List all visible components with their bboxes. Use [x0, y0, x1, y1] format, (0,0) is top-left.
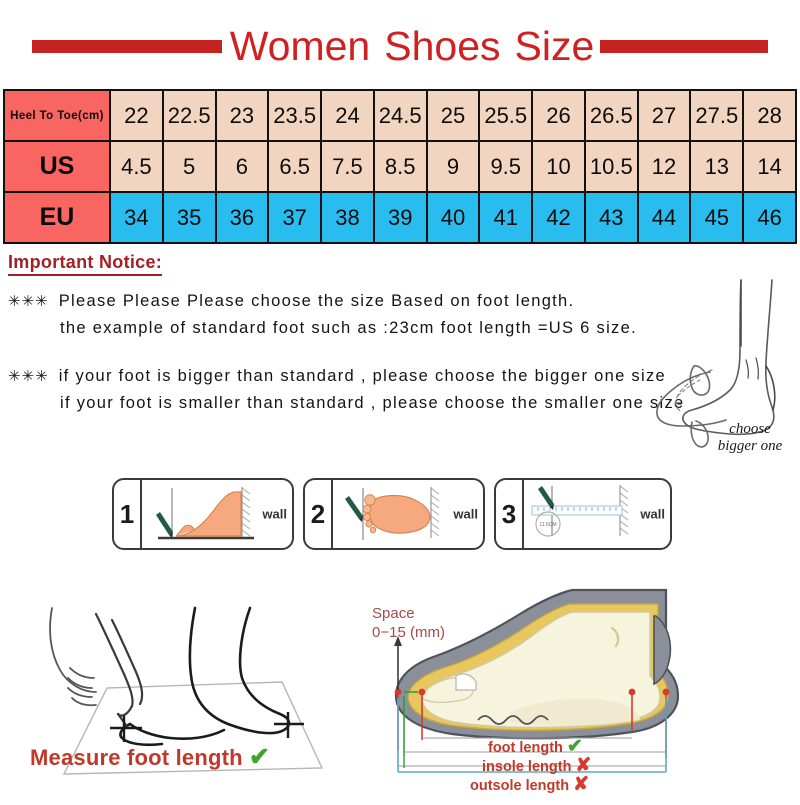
row-header-us: US	[4, 141, 110, 192]
step-3-wall-label: wall	[640, 507, 665, 522]
step-2-number: 2	[305, 480, 333, 548]
cell-us-11: 13	[690, 141, 743, 192]
legend-insole-length-cross-icon: ✘	[575, 755, 591, 776]
table-row-cm: Heel To Toe(cm) 22 22.5 23 23.5 24 24.5 …	[4, 90, 796, 141]
row-header-eu: EU	[4, 192, 110, 243]
cell-cm-12: 28	[743, 90, 796, 141]
step-panel-2: 2	[303, 478, 485, 550]
cell-us-3: 6.5	[268, 141, 321, 192]
cell-us-2: 6	[216, 141, 269, 192]
cell-eu-0: 34	[110, 192, 163, 243]
legend-foot-length-label: foot length	[488, 740, 563, 756]
table-row-eu: EU 34 35 36 37 38 39 40 41 42 43 44 45 4…	[4, 192, 796, 243]
cell-us-10: 12	[638, 141, 691, 192]
legend-insole-length-label: insole length	[482, 759, 571, 775]
cell-us-12: 14	[743, 141, 796, 192]
asterisk-marker-2: ✳✳✳	[8, 368, 49, 385]
cell-eu-5: 39	[374, 192, 427, 243]
measure-steps-panel: 1	[112, 478, 672, 550]
step-2-wall-label: wall	[453, 507, 478, 522]
notice-line-1: ✳✳✳Please Please Please choose the size …	[8, 288, 668, 315]
cell-eu-3: 37	[268, 192, 321, 243]
choose-bigger-one-caption: choose bigger one	[695, 421, 800, 455]
step-1-number: 1	[114, 480, 142, 548]
asterisk-marker-1: ✳✳✳	[8, 293, 49, 310]
cell-cm-3: 23.5	[268, 90, 321, 141]
step-panel-1: 1	[112, 478, 294, 550]
step-1-wall-label: wall	[262, 507, 287, 522]
cell-eu-11: 45	[690, 192, 743, 243]
title-accent-bar-left	[32, 40, 222, 53]
choose-caption-line-1: choose	[695, 421, 800, 438]
step-2-illustration: wall	[333, 480, 483, 548]
cell-cm-9: 26.5	[585, 90, 638, 141]
cell-cm-4: 24	[321, 90, 374, 141]
cell-eu-2: 36	[216, 192, 269, 243]
cell-us-4: 7.5	[321, 141, 374, 192]
notice-line-3-text: if your foot is bigger than standard , p…	[59, 367, 666, 385]
shoe-space-line-1: Space	[372, 604, 445, 623]
legend-outsole-length-cross-icon: ✘	[573, 774, 589, 795]
cell-us-6: 9	[427, 141, 480, 192]
step-panel-3: 3	[494, 478, 672, 550]
cell-eu-1: 35	[163, 192, 216, 243]
important-notice-body: ✳✳✳Please Please Please choose the size …	[8, 288, 668, 416]
legend-row-outsole-length: outsole length✘	[470, 776, 770, 795]
cell-us-8: 10	[532, 141, 585, 192]
step-1-illustration: wall	[142, 480, 292, 548]
cell-us-9: 10.5	[585, 141, 638, 192]
legend-row-foot-length: foot length✔	[470, 738, 770, 757]
cell-cm-2: 23	[216, 90, 269, 141]
cell-eu-6: 40	[427, 192, 480, 243]
size-conversion-table: Heel To Toe(cm) 22 22.5 23 23.5 24 24.5 …	[3, 89, 797, 244]
page-title-word-3: Size	[515, 23, 595, 69]
page-title-word-1: Women	[230, 23, 371, 69]
cell-eu-10: 44	[638, 192, 691, 243]
measure-caption-text: Measure foot length	[30, 745, 243, 770]
legend-foot-length-check-icon: ✔	[567, 736, 583, 757]
shoe-space-label: Space 0−15 (mm)	[372, 604, 445, 642]
cell-eu-8: 42	[532, 192, 585, 243]
legend-outsole-length-label: outsole length	[470, 778, 569, 794]
notice-spacer	[8, 341, 668, 363]
notice-line-1-text: Please Please Please choose the size Bas…	[59, 292, 575, 310]
cell-cm-6: 25	[427, 90, 480, 141]
cell-cm-1: 22.5	[163, 90, 216, 141]
legend-row-insole-length: insole length✘	[470, 757, 770, 776]
cell-cm-8: 26	[532, 90, 585, 141]
cell-cm-0: 22	[110, 90, 163, 141]
cell-eu-9: 43	[585, 192, 638, 243]
choose-caption-line-2: bigger one	[695, 438, 800, 455]
cell-eu-4: 38	[321, 192, 374, 243]
cell-us-1: 5	[163, 141, 216, 192]
page-title-word-2: Shoes	[384, 23, 500, 69]
cell-cm-11: 27.5	[690, 90, 743, 141]
cell-us-5: 8.5	[374, 141, 427, 192]
shoe-measurement-legend: foot length✔ insole length✘ outsole leng…	[470, 738, 770, 795]
page-title: WomenShoesSize	[226, 26, 599, 67]
cell-cm-5: 24.5	[374, 90, 427, 141]
notice-line-4: if your foot is smaller than standard , …	[8, 390, 668, 416]
important-notice-heading: Important Notice:	[8, 252, 162, 276]
cell-eu-7: 41	[479, 192, 532, 243]
notice-line-2: the example of standard foot such as :23…	[8, 315, 668, 341]
step-3-illustration: 11.5CM wall	[524, 480, 670, 548]
cell-eu-12: 46	[743, 192, 796, 243]
measure-foot-length-caption: Measure foot length✔	[30, 742, 270, 772]
page-title-banner: WomenShoesSize	[0, 18, 800, 74]
step-3-ruler-reading: 11.5CM	[539, 522, 556, 528]
cell-cm-10: 27	[638, 90, 691, 141]
shoe-space-line-2: 0−15 (mm)	[372, 623, 445, 642]
table-row-us: US 4.5 5 6 6.5 7.5 8.5 9 9.5 10 10.5 12 …	[4, 141, 796, 192]
step-3-number: 3	[496, 480, 524, 548]
title-accent-bar-right	[600, 40, 768, 53]
cell-us-0: 4.5	[110, 141, 163, 192]
cell-us-7: 9.5	[479, 141, 532, 192]
notice-line-3: ✳✳✳if your foot is bigger than standard …	[8, 363, 668, 390]
measure-check-icon: ✔	[249, 743, 270, 771]
row-header-heel-to-toe: Heel To Toe(cm)	[4, 90, 110, 141]
cell-cm-7: 25.5	[479, 90, 532, 141]
